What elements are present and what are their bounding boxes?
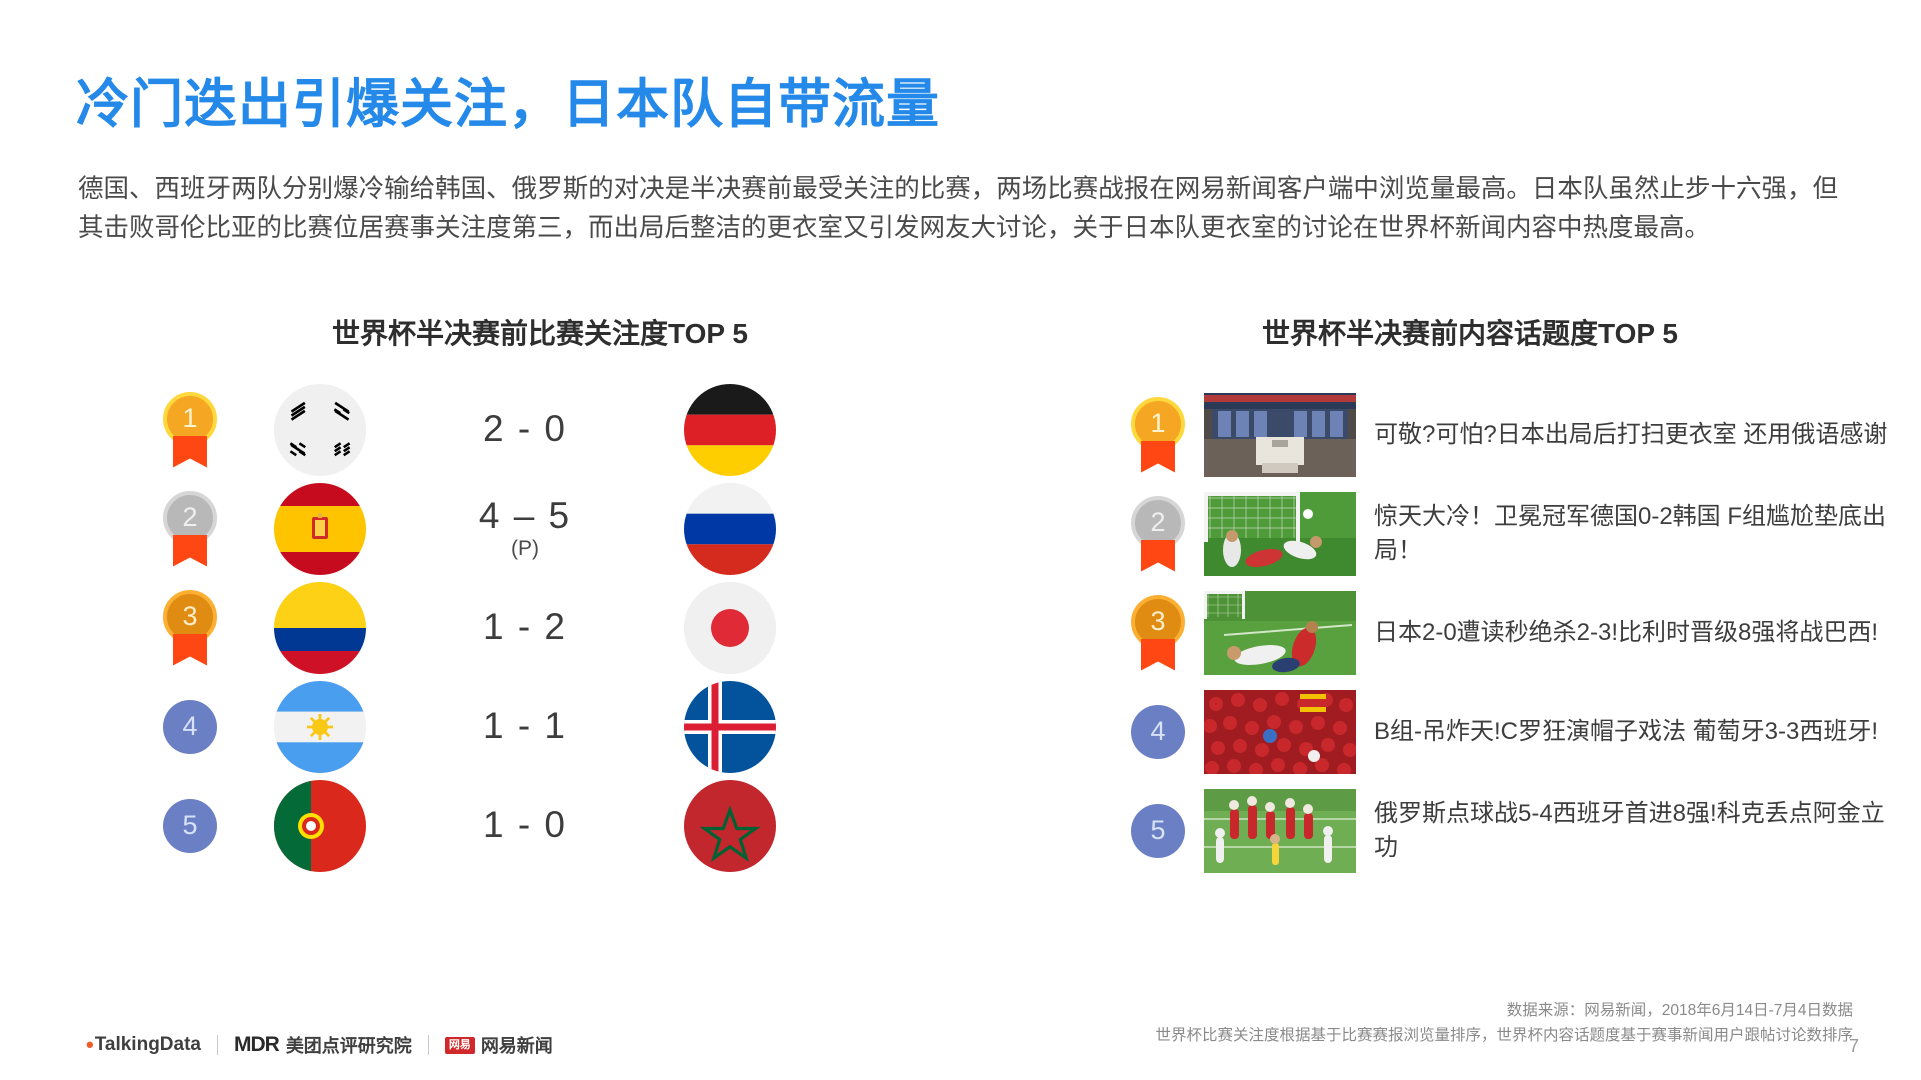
score-label: 1 - 0 [483, 804, 567, 845]
footer-logos: • TalkingData MDR 美团点评研究院 网易 网易新闻 [86, 1032, 553, 1058]
topic-popularity-list: 1 可敬?可怕?日本出局后打扫更衣室 还用俄语感谢 2 [1112, 385, 1902, 880]
rank-cell: 2 [1112, 496, 1204, 572]
list-item: 2 惊天大冷！卫冕冠军德国0-2韩国 F组尴尬垫底出局！ [1112, 484, 1902, 583]
away-flag-cell [650, 681, 810, 773]
score-label: 4 – 5 [479, 495, 571, 536]
lede-paragraph: 德国、西班牙两队分别爆冷输给韩国、俄罗斯的对决是半决赛前最受关注的比赛，两场比赛… [78, 170, 1838, 248]
rank-cell: 1 [1112, 397, 1204, 473]
rank-cell: 5 [1112, 804, 1204, 858]
match-attention-list: 1 2 - 0 [140, 380, 900, 875]
netease-chip-label: 网易 [445, 1037, 475, 1054]
logo-netease-news: 网易 网易新闻 [445, 1032, 553, 1058]
away-flag-cell [650, 483, 810, 575]
right-section-heading: 世界杯半决赛前内容话题度TOP 5 [1080, 312, 1860, 352]
topic-thumbnail-goal-net [1204, 492, 1356, 576]
gold-medal-icon: 1 [163, 392, 217, 468]
score-note: (P) [400, 538, 650, 560]
rank-cell: 3 [140, 590, 240, 666]
ribbon-icon [173, 535, 207, 567]
list-item: 1 可敬?可怕?日本出局后打扫更衣室 还用俄语感谢 [1112, 385, 1902, 484]
mdr-label: 美团点评研究院 [286, 1032, 412, 1058]
flag-japan-icon [684, 582, 776, 674]
score-cell: 4 – 5 (P) [400, 497, 650, 560]
mdr-mark-label: MDR [234, 1033, 279, 1057]
away-flag-cell [650, 384, 810, 476]
rank-badge: 5 [163, 799, 217, 853]
table-row: 4 1 - 1 [140, 677, 900, 776]
home-flag-cell [240, 384, 400, 476]
rank-badge: 4 [163, 700, 217, 754]
topic-title: 俄罗斯点球战5-4西班牙首进8强!科克丢点阿金立功 [1374, 797, 1894, 865]
source-line-1: 数据来源：网易新闻，2018年6月14日-7月4日数据 [1507, 1002, 1853, 1019]
list-item: 5 俄罗斯点球战5-4西班牙首进8 [1112, 781, 1902, 880]
logo-divider [428, 1035, 429, 1055]
rank-badge: 4 [1131, 705, 1185, 759]
bronze-medal-icon: 3 [1131, 595, 1185, 671]
flag-portugal-icon [274, 780, 366, 872]
source-line-2: 世界杯比赛关注度根据基于比赛赛报浏览量排序，世界杯内容话题度基于赛事新闻用户跟帖… [653, 1023, 1853, 1048]
rank-cell: 5 [140, 799, 240, 853]
score-cell: 1 - 0 [400, 806, 650, 845]
source-note: 数据来源：网易新闻，2018年6月14日-7月4日数据 世界杯比赛关注度根据基于… [653, 998, 1853, 1048]
flag-germany-icon [684, 384, 776, 476]
netease-news-label: 网易新闻 [481, 1032, 553, 1058]
flag-argentina-icon [274, 681, 366, 773]
ribbon-icon [1141, 540, 1175, 572]
flag-morocco-icon [684, 780, 776, 872]
rank-cell: 4 [140, 700, 240, 754]
score-label: 2 - 0 [483, 408, 567, 449]
away-flag-cell [650, 582, 810, 674]
ribbon-icon [1141, 639, 1175, 671]
score-cell: 1 - 2 [400, 608, 650, 647]
score-label: 1 - 1 [483, 705, 567, 746]
table-row: 2 4 – 5 (P) [140, 479, 900, 578]
gold-medal-icon: 1 [1131, 397, 1185, 473]
logo-meituan-research: MDR 美团点评研究院 [234, 1032, 412, 1058]
logo-talkingdata: • TalkingData [86, 1032, 201, 1058]
topic-title: 日本2-0遭读秒绝杀2-3!比利时晋级8强将战巴西! [1374, 616, 1878, 650]
ribbon-icon [1141, 441, 1175, 473]
topic-title: 惊天大冷！卫冕冠军德国0-2韩国 F组尴尬垫底出局！ [1374, 500, 1894, 568]
away-flag-cell [650, 780, 810, 872]
flag-iceland-icon [684, 681, 776, 773]
home-flag-cell [240, 483, 400, 575]
flag-russia-icon [684, 483, 776, 575]
talkingdata-label: TalkingData [95, 1034, 201, 1056]
flag-south-korea-icon [274, 384, 366, 476]
score-cell: 2 - 0 [400, 410, 650, 449]
flag-spain-icon [274, 483, 366, 575]
ribbon-icon [173, 436, 207, 468]
topic-thumbnail-players-on-pitch [1204, 591, 1356, 675]
page-number: 7 [1849, 1036, 1859, 1057]
home-flag-cell [240, 681, 400, 773]
topic-title: 可敬?可怕?日本出局后打扫更衣室 还用俄语感谢 [1374, 418, 1887, 452]
rank-badge: 5 [1131, 804, 1185, 858]
slide: 冷门迭出引爆关注，日本队自带流量 德国、西班牙两队分别爆冷输给韩国、俄罗斯的对决… [0, 0, 1921, 1080]
logo-divider [217, 1035, 218, 1055]
silver-medal-icon: 2 [163, 491, 217, 567]
topic-thumbnail-locker-room [1204, 393, 1356, 477]
home-flag-cell [240, 582, 400, 674]
rank-cell: 1 [140, 392, 240, 468]
silver-medal-icon: 2 [1131, 496, 1185, 572]
home-flag-cell [240, 780, 400, 872]
ribbon-icon [173, 634, 207, 666]
left-section-heading: 世界杯半决赛前比赛关注度TOP 5 [200, 312, 880, 352]
table-row: 5 1 - 0 [140, 776, 900, 875]
topic-thumbnail-celebration [1204, 789, 1356, 873]
rank-cell: 4 [1112, 705, 1204, 759]
table-row: 1 2 - 0 [140, 380, 900, 479]
rank-cell: 3 [1112, 595, 1204, 671]
page-title: 冷门迭出引爆关注，日本队自带流量 [76, 62, 940, 138]
list-item: 3 日本2-0遭读秒绝杀2-3!比利时晋级8强将战巴西! [1112, 583, 1902, 682]
score-cell: 1 - 1 [400, 707, 650, 746]
flag-colombia-icon [274, 582, 366, 674]
score-label: 1 - 2 [483, 606, 567, 647]
talkingdata-mark-icon: • [86, 1032, 94, 1058]
topic-title: B组-吊炸天!C罗狂演帽子戏法 葡萄牙3-3西班牙! [1374, 715, 1878, 749]
bronze-medal-icon: 3 [163, 590, 217, 666]
list-item: 4 B组-吊炸天!C罗狂演帽子戏法 葡萄牙3-3西班牙! [1112, 682, 1902, 781]
rank-cell: 2 [140, 491, 240, 567]
table-row: 3 1 - 2 [140, 578, 900, 677]
topic-thumbnail-red-crowd [1204, 690, 1356, 774]
